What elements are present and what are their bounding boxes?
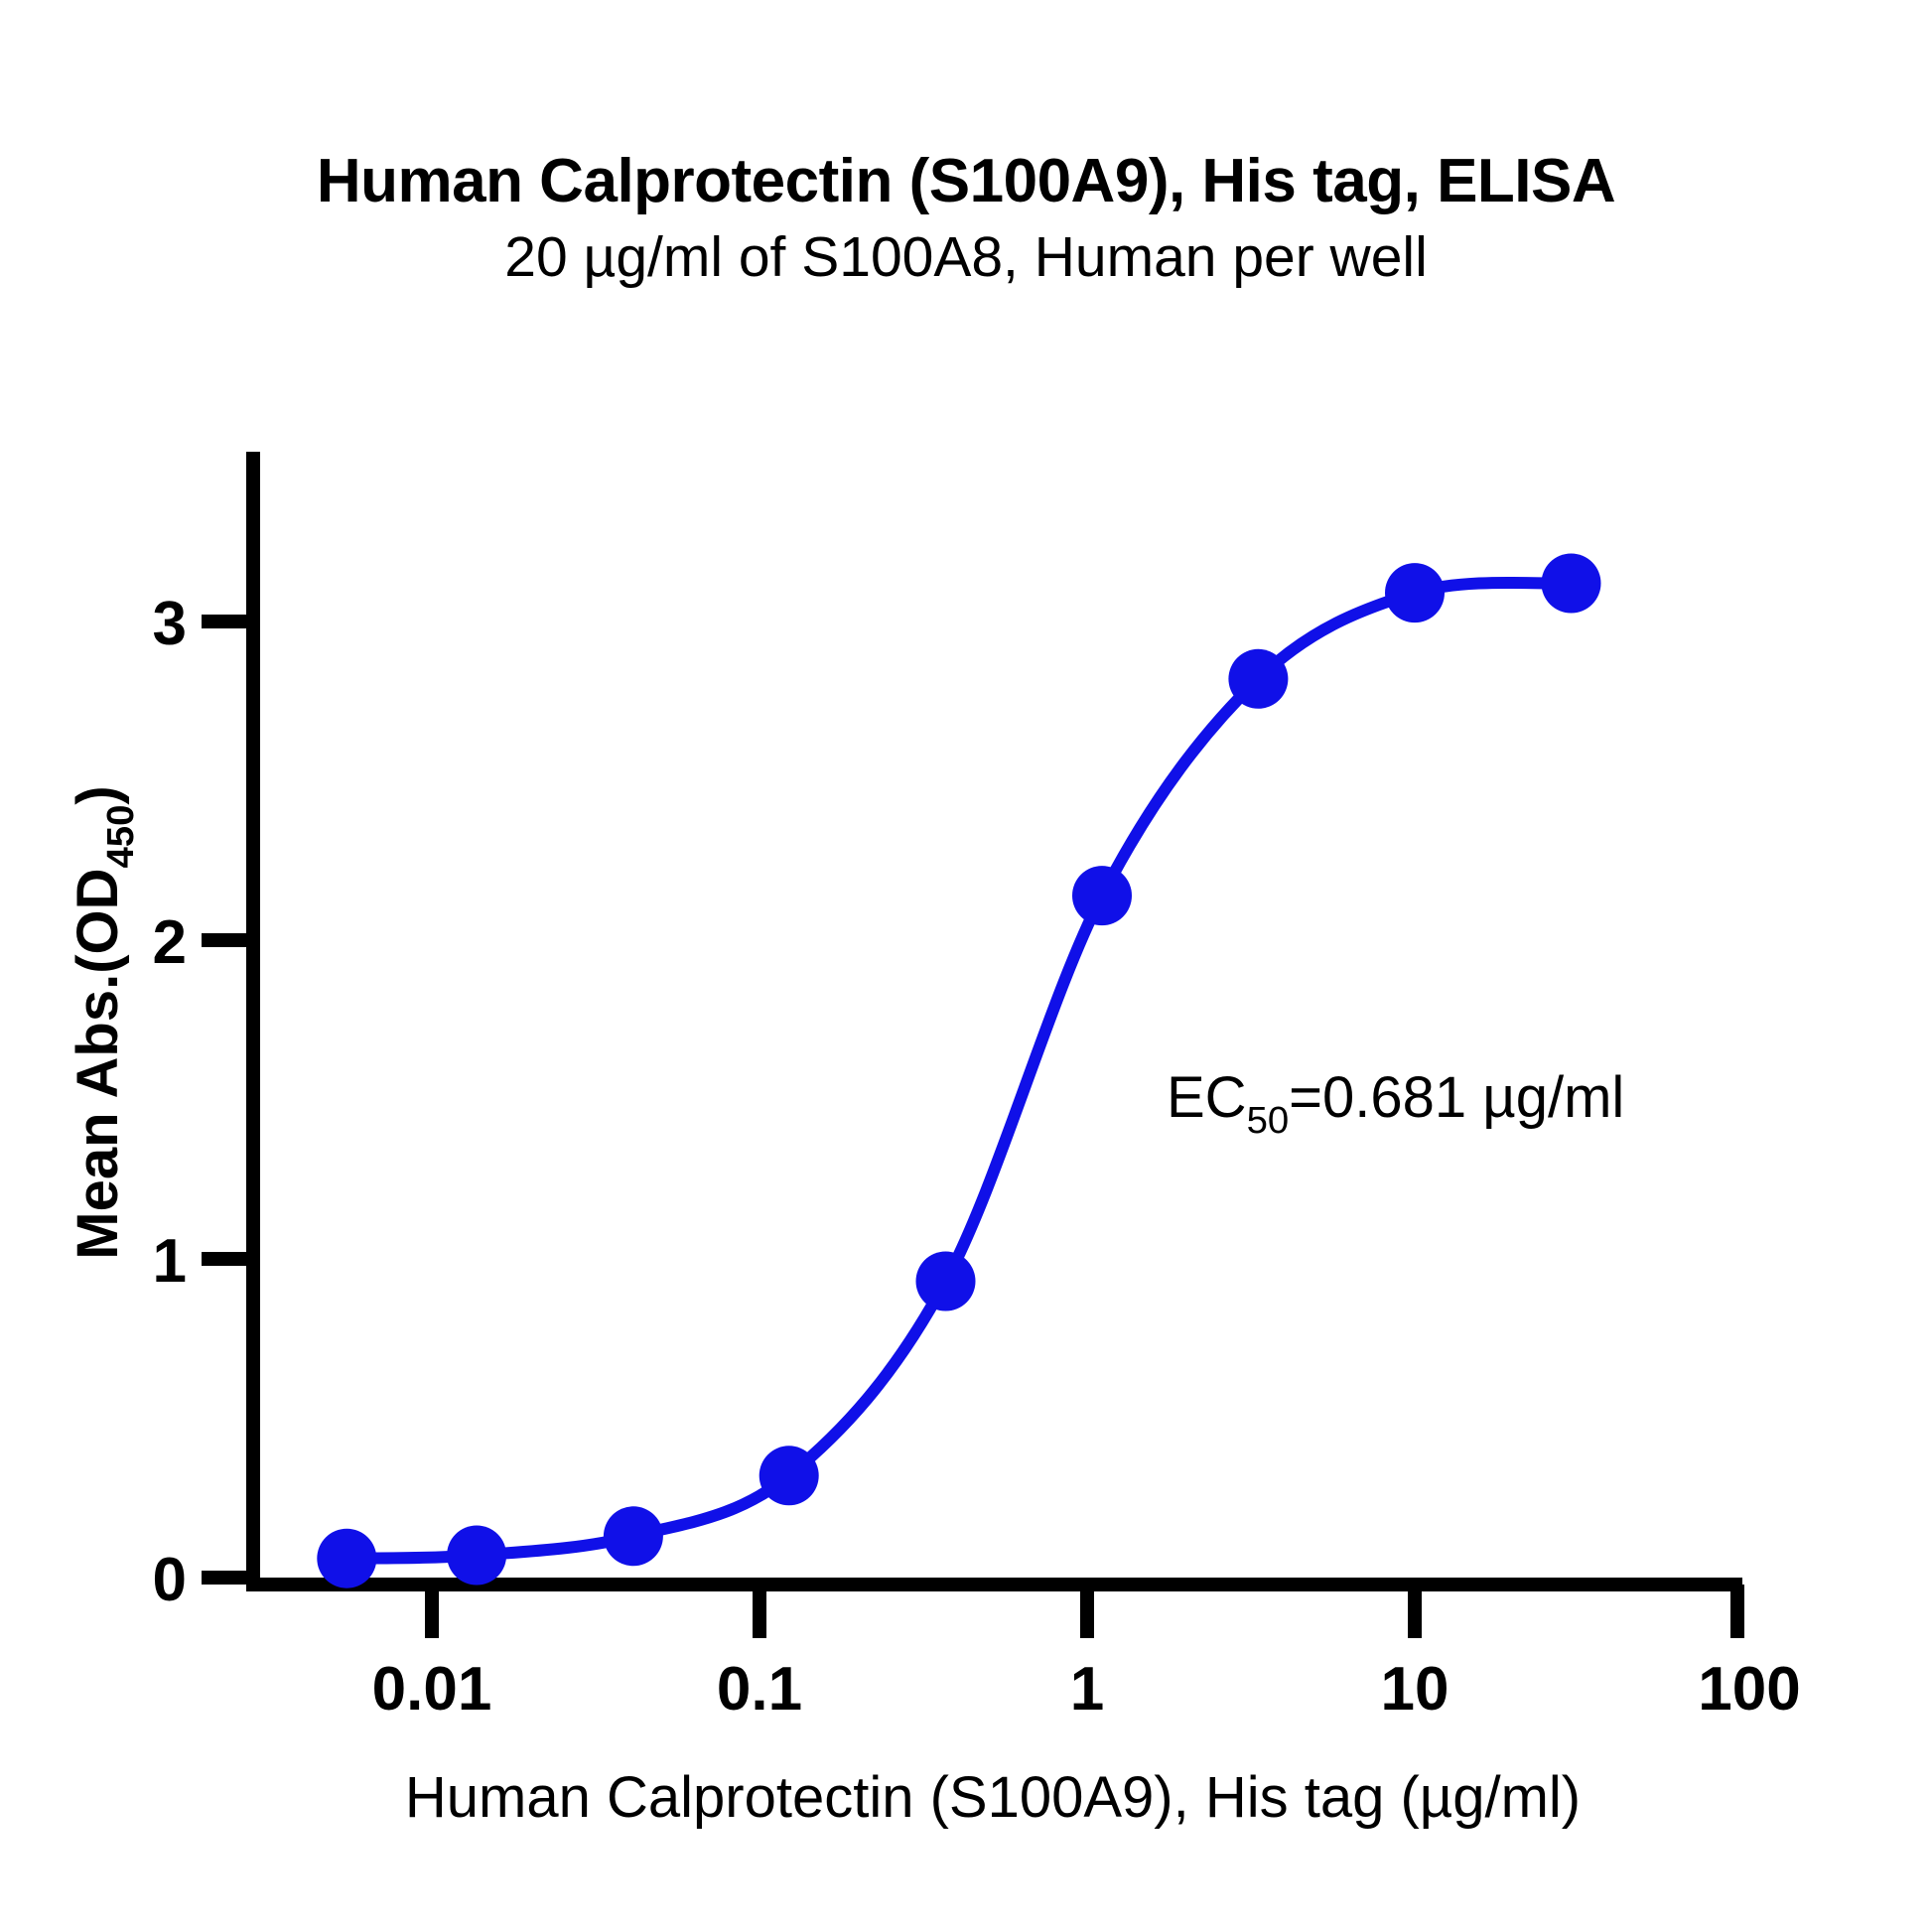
data-point	[604, 1506, 663, 1566]
y-axis-title: Mean Abs.(OD450)	[66, 785, 142, 1259]
data-point	[317, 1529, 376, 1588]
x-tick-label-1: 0.1	[717, 1655, 802, 1724]
ec50-suffix: =0.681 µg/ml	[1289, 1065, 1624, 1130]
y-tick-label-0: 0	[153, 1546, 187, 1614]
data-point	[1072, 866, 1132, 925]
y-tick-label-3: 3	[153, 590, 187, 658]
y-axis-title-sub: 450	[99, 805, 142, 869]
x-tick-label-0: 0.01	[372, 1655, 492, 1724]
y-tick-label-2: 2	[153, 908, 187, 977]
y-tick-label-1: 1	[153, 1227, 187, 1296]
x-tick-label-2: 1	[1070, 1655, 1104, 1724]
data-point	[447, 1526, 506, 1586]
ec50-subscript: 50	[1247, 1099, 1290, 1142]
ec50-annotation: EC50=0.681 µg/ml	[1167, 1065, 1624, 1142]
x-axis-title: Human Calprotectin (S100A9), His tag (µg…	[405, 1765, 1581, 1830]
x-tick-label-4: 100	[1698, 1655, 1800, 1724]
x-tick-label-3: 10	[1381, 1655, 1449, 1724]
data-point	[759, 1446, 819, 1505]
svg-text:Mean Abs.(OD450): Mean Abs.(OD450)	[66, 785, 142, 1259]
data-point	[1385, 563, 1445, 622]
plot-area: 0 1 2 3 0.01 0.1 1 10 100 Human Calprote…	[0, 0, 1932, 1932]
ec50-prefix: EC	[1167, 1065, 1247, 1130]
chart-figure: Human Calprotectin (S100A9), His tag, EL…	[0, 0, 1932, 1932]
y-axis-title-close: )	[66, 785, 130, 804]
x-axis-ticks	[432, 1585, 1737, 1638]
data-point	[916, 1252, 976, 1311]
data-point	[1228, 649, 1288, 709]
y-axis-ticks	[202, 621, 253, 1578]
data-point	[1542, 554, 1601, 614]
y-axis-title-main: Mean Abs.(OD	[66, 868, 130, 1259]
